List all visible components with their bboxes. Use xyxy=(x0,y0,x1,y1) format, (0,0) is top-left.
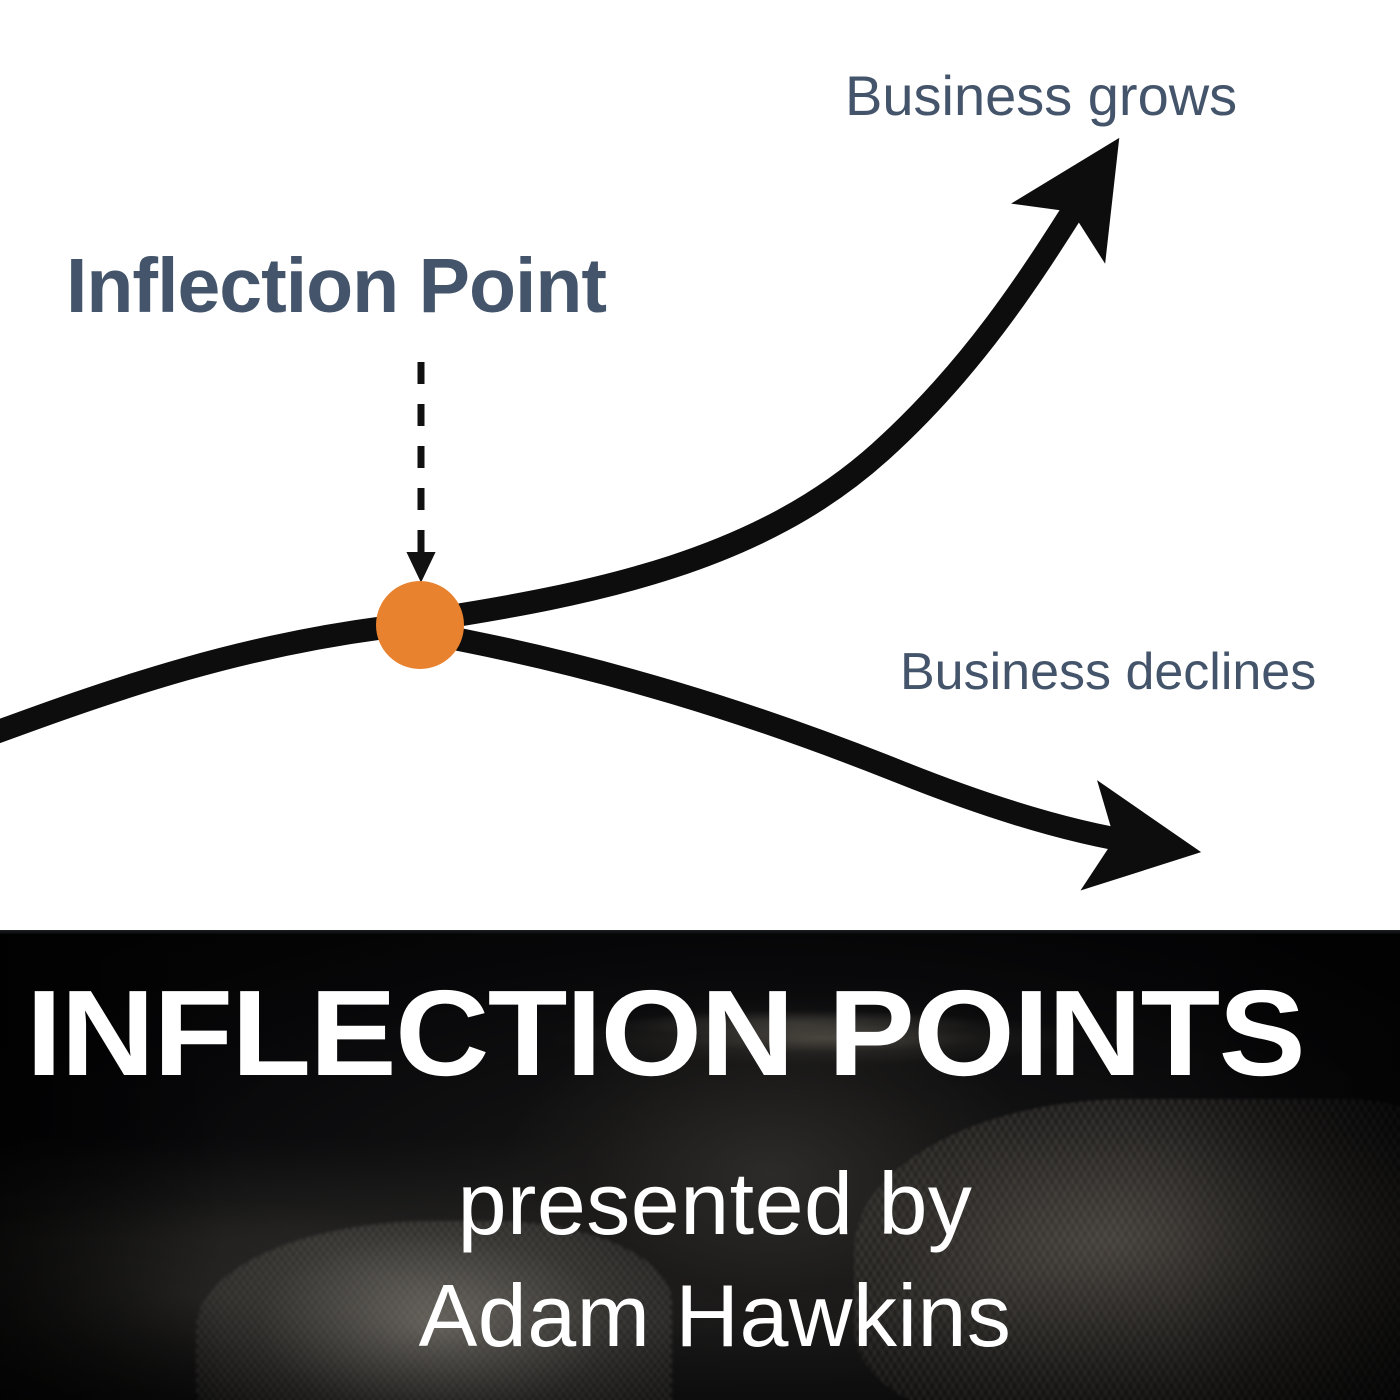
business-declines-label: Business declines xyxy=(900,646,1316,698)
approach-curve xyxy=(0,623,424,742)
inflection-point-diagram: Inflection Point Business grows Business… xyxy=(0,0,1400,930)
podcast-cover-art: Inflection Point Business grows Business… xyxy=(0,0,1400,1400)
panel-top-edge xyxy=(0,930,1400,934)
podcast-title: INFLECTION POINTS xyxy=(26,972,1304,1094)
presented-by-label: presented by xyxy=(0,1160,1400,1248)
inflection-point-marker xyxy=(376,581,464,669)
presenter-name: Adam Hawkins xyxy=(0,1272,1400,1360)
inflection-point-label: Inflection Point xyxy=(66,248,606,325)
curve-graphic xyxy=(0,0,1400,930)
business-grows-label: Business grows xyxy=(845,68,1237,124)
